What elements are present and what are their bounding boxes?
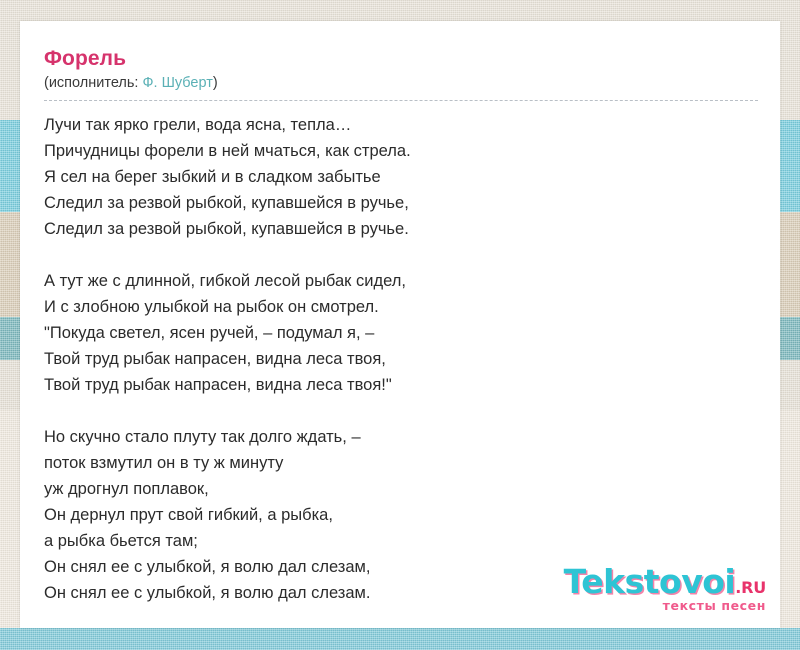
performer-prefix-label: (исполнитель: — [44, 75, 138, 91]
lyric-line: А тут же с длинной, гибкой лесой рыбак с… — [44, 268, 758, 294]
lyric-line: уж дрогнул поплавок, — [44, 476, 758, 502]
lyric-line: "Покуда светел, ясен ручей, – подумал я,… — [44, 320, 758, 346]
performer-line: (исполнитель: Ф. Шуберт) — [44, 74, 758, 100]
performer-link[interactable]: Ф. Шуберт — [142, 75, 212, 91]
lyric-line: Лучи так ярко грели, вода ясна, тепла… — [44, 112, 758, 138]
page-title: Форель — [44, 47, 758, 71]
lyric-line: Следил за резвой рыбкой, купавшейся в ру… — [44, 216, 758, 242]
page-root: Форель (исполнитель: Ф. Шуберт) Лучи так… — [0, 0, 800, 650]
lyric-line: И с злобною улыбкой на рыбок он смотрел. — [44, 294, 758, 320]
background-stripe-6 — [0, 628, 800, 650]
card-content: Форель (исполнитель: Ф. Шуберт) Лучи так… — [20, 21, 780, 628]
lyric-line: Но скучно стало плуту так долго ждать, – — [44, 424, 758, 450]
lyric-line: Твой труд рыбак напрасен, видна леса тво… — [44, 372, 758, 398]
lyrics-stanza: Лучи так ярко грели, вода ясна, тепла…Пр… — [44, 112, 758, 242]
lyric-line: а рыбка бьется там; — [44, 528, 758, 554]
lyric-line: Он дернул прут свой гибкий, а рыбка, — [44, 502, 758, 528]
watermark-wordmark: Tekstovoi.RU — [564, 565, 766, 598]
lyrics-text: Лучи так ярко грели, вода ясна, тепла…Пр… — [44, 101, 758, 606]
lyric-line: Причудницы форели в ней мчаться, как стр… — [44, 138, 758, 164]
site-watermark: Tekstovoi.RU тексты песен — [564, 565, 766, 613]
lyric-line: Я сел на берег зыбкий и в сладком забыть… — [44, 164, 758, 190]
watermark-tld: .RU — [735, 578, 766, 597]
lyrics-stanza: А тут же с длинной, гибкой лесой рыбак с… — [44, 268, 758, 398]
lyrics-card: Форель (исполнитель: Ф. Шуберт) Лучи так… — [20, 21, 780, 628]
lyric-line: Твой труд рыбак напрасен, видна леса тво… — [44, 346, 758, 372]
watermark-tagline: тексты песен — [564, 600, 766, 613]
performer-suffix-label: ) — [213, 75, 218, 91]
lyric-line: поток взмутил он в ту ж минуту — [44, 450, 758, 476]
lyric-line: Следил за резвой рыбкой, купавшейся в ру… — [44, 190, 758, 216]
watermark-name: Tekstovoi — [564, 562, 736, 601]
